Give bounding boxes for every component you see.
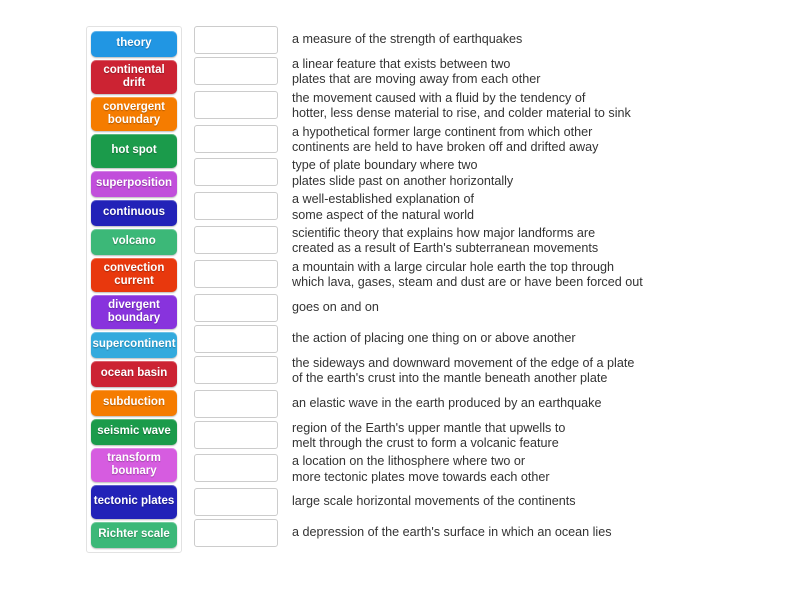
answer-dropbox[interactable] bbox=[194, 226, 278, 254]
answer-dropbox[interactable] bbox=[194, 192, 278, 220]
definition-text: region of the Earth's upper mantle that … bbox=[292, 421, 565, 452]
answer-dropbox[interactable] bbox=[194, 26, 278, 54]
definition-text: a linear feature that exists between two… bbox=[292, 57, 541, 88]
definition-text: an elastic wave in the earth produced by… bbox=[292, 390, 601, 411]
term-tile-hot-spot[interactable]: hot spot bbox=[91, 134, 177, 168]
answer-dropbox[interactable] bbox=[194, 421, 278, 449]
term-tile-transform-bounary[interactable]: transform bounary bbox=[91, 448, 177, 482]
definition-text: the movement caused with a fluid by the … bbox=[292, 91, 631, 122]
definition-text: goes on and on bbox=[292, 294, 379, 315]
term-tile-convergent-boundary[interactable]: convergent boundary bbox=[91, 97, 177, 131]
definition-row: a depression of the earth's surface in w… bbox=[194, 519, 794, 547]
answer-dropbox[interactable] bbox=[194, 325, 278, 353]
answer-dropbox[interactable] bbox=[194, 294, 278, 322]
answer-dropbox[interactable] bbox=[194, 488, 278, 516]
definition-rows-list: a measure of the strength of earthquakes… bbox=[194, 26, 794, 550]
definition-text: the sideways and downward movement of th… bbox=[292, 356, 634, 387]
definition-row: the movement caused with a fluid by the … bbox=[194, 91, 794, 122]
definition-row: type of plate boundary where two plates … bbox=[194, 158, 794, 189]
term-tile-ocean-basin[interactable]: ocean basin bbox=[91, 361, 177, 387]
definition-row: a linear feature that exists between two… bbox=[194, 57, 794, 88]
term-tile-continuous[interactable]: continuous bbox=[91, 200, 177, 226]
definition-text: a well-established explanation of some a… bbox=[292, 192, 474, 223]
definition-text: type of plate boundary where two plates … bbox=[292, 158, 513, 189]
definition-text: scientific theory that explains how majo… bbox=[292, 226, 598, 257]
term-tile-volcano[interactable]: volcano bbox=[91, 229, 177, 255]
definition-row: large scale horizontal movements of the … bbox=[194, 488, 794, 516]
answer-dropbox[interactable] bbox=[194, 454, 278, 482]
answer-dropbox[interactable] bbox=[194, 260, 278, 288]
term-tile-supercontinent[interactable]: supercontinent bbox=[91, 332, 177, 358]
term-tile-subduction[interactable]: subduction bbox=[91, 390, 177, 416]
definition-text: a mountain with a large circular hole ea… bbox=[292, 260, 643, 291]
definition-row: a mountain with a large circular hole ea… bbox=[194, 260, 794, 291]
term-tile-tectonic-plates[interactable]: tectonic plates bbox=[91, 485, 177, 519]
term-tile-richter-scale[interactable]: Richter scale bbox=[91, 522, 177, 548]
answer-dropbox[interactable] bbox=[194, 158, 278, 186]
answer-dropbox[interactable] bbox=[194, 91, 278, 119]
definition-text: a depression of the earth's surface in w… bbox=[292, 519, 612, 540]
definition-row: goes on and on bbox=[194, 294, 794, 322]
definition-text: a hypothetical former large continent fr… bbox=[292, 125, 598, 156]
definition-text: a location on the lithosphere where two … bbox=[292, 454, 550, 485]
definition-row: the action of placing one thing on or ab… bbox=[194, 325, 794, 353]
definition-row: a measure of the strength of earthquakes bbox=[194, 26, 794, 54]
term-tile-superposition[interactable]: superposition bbox=[91, 171, 177, 197]
term-tile-theory[interactable]: theory bbox=[91, 31, 177, 57]
definition-row: the sideways and downward movement of th… bbox=[194, 356, 794, 387]
match-up-activity: theorycontinental driftconvergent bounda… bbox=[0, 0, 800, 600]
answer-dropbox[interactable] bbox=[194, 57, 278, 85]
answer-dropbox[interactable] bbox=[194, 519, 278, 547]
answer-dropbox[interactable] bbox=[194, 125, 278, 153]
definition-row: a well-established explanation of some a… bbox=[194, 192, 794, 223]
definition-text: the action of placing one thing on or ab… bbox=[292, 325, 576, 346]
definition-row: a location on the lithosphere where two … bbox=[194, 454, 794, 485]
definition-row: region of the Earth's upper mantle that … bbox=[194, 421, 794, 452]
draggable-terms-tray: theorycontinental driftconvergent bounda… bbox=[86, 26, 182, 553]
answer-dropbox[interactable] bbox=[194, 390, 278, 418]
term-tile-convection-current[interactable]: convection current bbox=[91, 258, 177, 292]
definition-row: a hypothetical former large continent fr… bbox=[194, 125, 794, 156]
term-tile-divergent-boundary[interactable]: divergent boundary bbox=[91, 295, 177, 329]
answer-dropbox[interactable] bbox=[194, 356, 278, 384]
definition-text: large scale horizontal movements of the … bbox=[292, 488, 576, 509]
definition-text: a measure of the strength of earthquakes bbox=[292, 26, 522, 47]
definition-row: scientific theory that explains how majo… bbox=[194, 226, 794, 257]
definition-row: an elastic wave in the earth produced by… bbox=[194, 390, 794, 418]
term-tile-continental-drift[interactable]: continental drift bbox=[91, 60, 177, 94]
term-tile-seismic-wave[interactable]: seismic wave bbox=[91, 419, 177, 445]
